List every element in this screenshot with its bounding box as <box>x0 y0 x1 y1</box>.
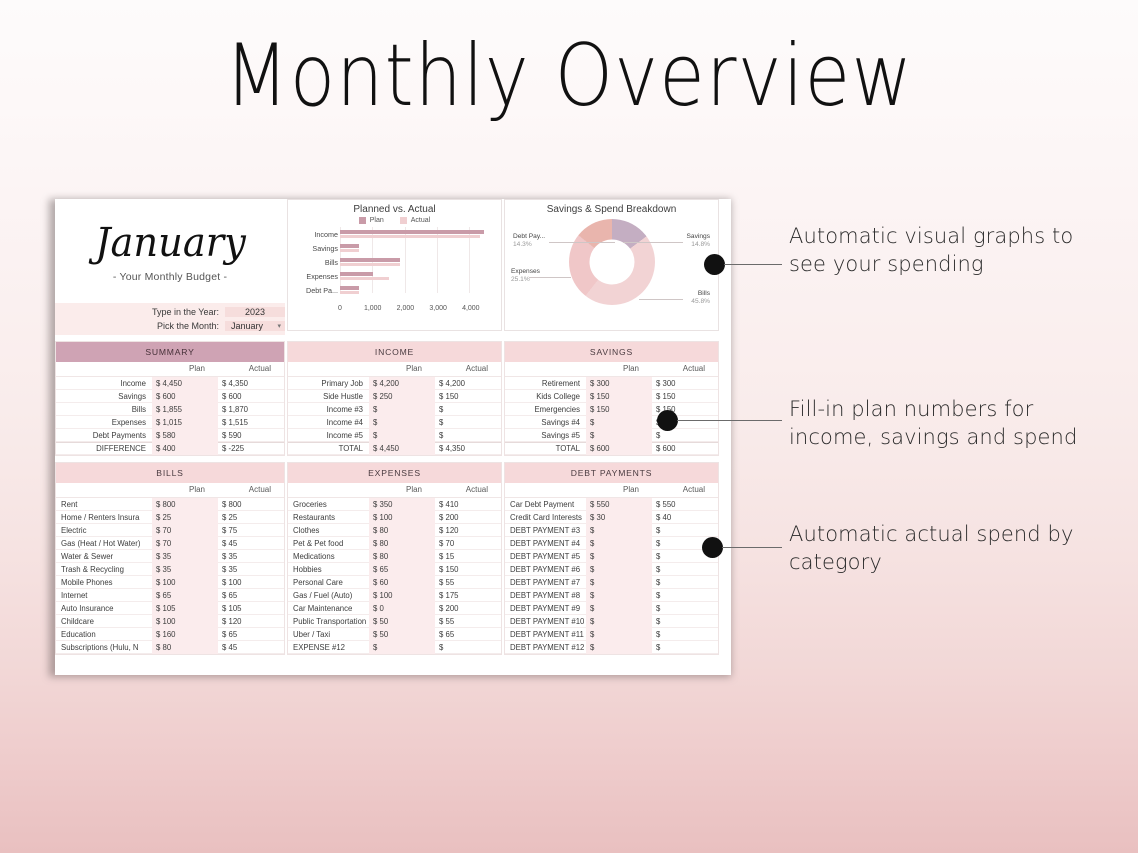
year-row: Type in the Year: 2023 <box>55 305 285 319</box>
cell-category: Public Transportation <box>288 617 369 626</box>
cell-actual[interactable]: $ <box>652 524 718 537</box>
cell-plan[interactable]: $ <box>369 429 435 442</box>
cell-plan[interactable]: $ <box>586 563 652 576</box>
cell-actual[interactable]: $ 4,350 <box>435 442 501 455</box>
cell-actual[interactable]: $ 175 <box>435 589 501 602</box>
annotation-dot-graphs <box>704 254 725 275</box>
table-row[interactable]: Trash & Recycling$ 35$ 35 <box>56 563 284 576</box>
cell-actual[interactable]: $ <box>652 615 718 628</box>
table-header-bills: BILLS <box>56 463 284 483</box>
table-row[interactable]: Savings #5$$ <box>505 429 718 442</box>
cell-plan[interactable]: $ 50 <box>369 615 435 628</box>
cell-actual[interactable]: $ 40 <box>652 511 718 524</box>
column-header-row: PlanActual <box>56 362 284 377</box>
cell-actual[interactable]: $ -225 <box>218 442 284 455</box>
table-row[interactable]: Internet$ 65$ 65 <box>56 589 284 602</box>
table-row[interactable]: Primary Job$ 4,200$ 4,200 <box>288 377 501 390</box>
column-header-row: PlanActual <box>288 483 501 498</box>
cell-category: Gas (Heat / Hot Water) <box>56 539 152 548</box>
cell-category: Credit Card Interests <box>505 513 586 522</box>
year-input[interactable]: 2023 <box>225 307 285 317</box>
table-row[interactable]: Income #4$$ <box>288 416 501 429</box>
cell-actual[interactable]: $ 150 <box>435 390 501 403</box>
cell-plan[interactable]: $ 150 <box>586 403 652 416</box>
cell-plan[interactable]: $ 35 <box>152 550 218 563</box>
cell-actual[interactable]: $ 800 <box>218 498 284 511</box>
table-row[interactable]: Car Maintenance$ 0$ 200 <box>288 602 501 615</box>
cell-actual[interactable]: $ <box>435 429 501 442</box>
table-row[interactable]: Electric$ 70$ 75 <box>56 524 284 537</box>
cell-actual[interactable]: $ 590 <box>218 429 284 442</box>
cell-plan[interactable]: $ 300 <box>586 377 652 390</box>
cell-plan[interactable]: $ 80 <box>152 641 218 654</box>
cell-actual[interactable]: $ 45 <box>218 641 284 654</box>
table-row[interactable]: Gas / Fuel (Auto)$ 100$ 175 <box>288 589 501 602</box>
bar-pair <box>340 270 495 282</box>
cell-plan[interactable]: $ <box>586 641 652 654</box>
cell-category: DEBT PAYMENT #9 <box>505 604 586 613</box>
cell-plan[interactable]: $ 80 <box>369 550 435 563</box>
cell-category: Education <box>56 630 152 639</box>
bar-chart-category-label: Debt Pa... <box>294 286 338 295</box>
cell-plan[interactable]: $ 65 <box>152 589 218 602</box>
table-row[interactable]: DEBT PAYMENT #6$$ <box>505 563 718 576</box>
cell-plan[interactable]: $ <box>586 589 652 602</box>
cell-category: Income #3 <box>288 405 369 414</box>
cell-plan[interactable]: $ 25 <box>152 511 218 524</box>
table-row[interactable]: Home / Renters Insura$ 25$ 25 <box>56 511 284 524</box>
cell-category: DEBT PAYMENT #6 <box>505 565 586 574</box>
table-row[interactable]: Income #5$$ <box>288 429 501 442</box>
cell-plan[interactable]: $ 60 <box>369 576 435 589</box>
annotation-fillin: Fill-in plan numbers for income, savings… <box>789 396 1119 451</box>
table-row[interactable]: Savings #4$$ <box>505 416 718 429</box>
legend-label-plan: Plan <box>370 217 384 224</box>
cell-plan[interactable]: $ <box>369 416 435 429</box>
cell-actual[interactable]: $ 1,515 <box>218 416 284 429</box>
savings-spend-chart-panel: Savings & Spend Breakdown Debt Pay... 14… <box>504 199 719 335</box>
cell-actual[interactable]: $ <box>435 641 501 654</box>
cell-actual[interactable]: $ 1,870 <box>218 403 284 416</box>
bar-chart-xtick: 1,000 <box>364 305 382 312</box>
table-row[interactable]: DEBT PAYMENT #4$$ <box>505 537 718 550</box>
cell-plan[interactable]: $ 600 <box>586 442 652 455</box>
cell-plan[interactable]: $ 4,450 <box>369 442 435 455</box>
annotation-line-graphs <box>724 264 782 265</box>
table-row[interactable]: Gas (Heat / Hot Water)$ 70$ 45 <box>56 537 284 550</box>
table-header-expenses: EXPENSES <box>288 463 501 483</box>
month-label: Pick the Month: <box>55 321 225 331</box>
cell-category: Trash & Recycling <box>56 565 152 574</box>
tables-row-1: SUMMARYPlanActualIncome$ 4,450$ 4,350Sav… <box>55 341 731 456</box>
bar-pair <box>340 284 495 296</box>
cell-category: TOTAL <box>288 444 369 453</box>
cell-plan[interactable]: $ 1,855 <box>152 403 218 416</box>
table-row[interactable]: DEBT PAYMENT #11$$ <box>505 628 718 641</box>
cell-category: Restaurants <box>288 513 369 522</box>
leader-line-savings <box>623 242 683 243</box>
annotation-graphs: Automatic visual graphs to see your spen… <box>789 223 1089 278</box>
table-row[interactable]: Water & Sewer$ 35$ 35 <box>56 550 284 563</box>
cell-actual[interactable]: $ 410 <box>435 498 501 511</box>
cell-actual[interactable]: $ <box>435 403 501 416</box>
bar-chart-plot: IncomeSavingsBillsExpensesDebt Pa... <box>294 227 495 305</box>
cell-category: Personal Care <box>288 578 369 587</box>
bar-chart-xtick: 3,000 <box>429 305 447 312</box>
cell-category: DEBT PAYMENT #8 <box>505 591 586 600</box>
leader-line-debt <box>549 242 615 243</box>
bar-actual <box>340 263 400 267</box>
cell-plan[interactable]: $ 550 <box>586 498 652 511</box>
column-header-plan: Plan <box>586 485 652 494</box>
donut-plot: Debt Pay... 14.3% Savings 14.8% Expenses… <box>511 217 712 317</box>
cell-category: Medications <box>288 552 369 561</box>
cell-plan[interactable]: $ 80 <box>369 524 435 537</box>
table-row[interactable]: Income$ 4,450$ 4,350 <box>56 377 284 390</box>
cell-actual[interactable]: $ 55 <box>435 576 501 589</box>
table-row[interactable]: Car Debt Payment$ 550$ 550 <box>505 498 718 511</box>
legend-label-actual: Actual <box>411 217 430 224</box>
cell-actual[interactable]: $ 105 <box>218 602 284 615</box>
bar-pair <box>340 242 495 254</box>
cell-plan[interactable]: $ 600 <box>152 390 218 403</box>
cell-plan[interactable]: $ 50 <box>369 628 435 641</box>
bar-chart-row: Debt Pa... <box>340 283 495 297</box>
table-row[interactable]: Mobile Phones$ 100$ 100 <box>56 576 284 589</box>
bar-chart-xtick: 4,000 <box>462 305 480 312</box>
cell-plan[interactable]: $ 30 <box>586 511 652 524</box>
column-header-category <box>56 364 152 373</box>
legend-swatch-plan <box>359 217 366 224</box>
savings-spend-breakdown-chart: Savings & Spend Breakdown Debt Pay... 14… <box>504 199 719 331</box>
annotation-dot-fillin <box>657 410 678 431</box>
table-row[interactable]: Debt Payments$ 580$ 590 <box>56 429 284 442</box>
cell-actual[interactable]: $ <box>652 429 718 442</box>
cell-plan[interactable]: $ 105 <box>152 602 218 615</box>
cell-plan[interactable]: $ <box>586 576 652 589</box>
cell-plan[interactable]: $ <box>586 550 652 563</box>
annotation-dot-actuals <box>702 537 723 558</box>
table-row[interactable]: Hobbies$ 65$ 150 <box>288 563 501 576</box>
table-row[interactable]: TOTAL$ 4,450$ 4,350 <box>288 442 501 455</box>
annotation-line-fillin <box>677 420 782 421</box>
bar-plan <box>340 244 359 248</box>
table-row[interactable]: Groceries$ 350$ 410 <box>288 498 501 511</box>
column-header-row: PlanActual <box>288 362 501 377</box>
bar-chart-xtick: 0 <box>338 305 342 312</box>
cell-plan[interactable]: $ 1,015 <box>152 416 218 429</box>
table-row[interactable]: DIFFERENCE$ 400$ -225 <box>56 442 284 455</box>
table-row[interactable]: EXPENSE #12$$ <box>288 641 501 654</box>
bar-chart-row: Savings <box>340 241 495 255</box>
cell-plan[interactable]: $ 400 <box>152 442 218 455</box>
cell-actual[interactable]: $ 45 <box>218 537 284 550</box>
cell-actual[interactable]: $ <box>652 628 718 641</box>
table-row[interactable]: DEBT PAYMENT #3$$ <box>505 524 718 537</box>
cell-plan[interactable]: $ <box>586 524 652 537</box>
cell-category: DEBT PAYMENT #10 <box>505 617 586 626</box>
table-row[interactable]: Side Hustle$ 250$ 150 <box>288 390 501 403</box>
cell-category: Savings #5 <box>505 431 586 440</box>
cell-actual[interactable]: $ <box>652 602 718 615</box>
cell-plan[interactable]: $ <box>586 429 652 442</box>
summary-table: SUMMARYPlanActualIncome$ 4,450$ 4,350Sav… <box>55 341 285 456</box>
cell-plan[interactable]: $ 160 <box>152 628 218 641</box>
month-select[interactable]: January ▾ <box>225 321 285 331</box>
table-row[interactable]: DEBT PAYMENT #9$$ <box>505 602 718 615</box>
cell-category: Primary Job <box>288 379 369 388</box>
table-row[interactable]: Subscriptions (Hulu, N$ 80$ 45 <box>56 641 284 654</box>
table-row[interactable]: Childcare$ 100$ 120 <box>56 615 284 628</box>
cell-actual[interactable]: $ <box>435 416 501 429</box>
bar-chart-xaxis: 01,0002,0003,0004,000 <box>294 305 495 317</box>
donut-ring <box>569 219 655 305</box>
cell-plan[interactable]: $ <box>586 602 652 615</box>
cell-actual[interactable]: $ 35 <box>218 563 284 576</box>
cell-category: Mobile Phones <box>56 578 152 587</box>
cell-category: Savings <box>56 392 152 401</box>
table-row[interactable]: Emergencies$ 150$ 150 <box>505 403 718 416</box>
column-header-actual: Actual <box>218 485 284 494</box>
cell-category: Income #5 <box>288 431 369 440</box>
table-row[interactable]: Savings$ 600$ 600 <box>56 390 284 403</box>
table-row[interactable]: Expenses$ 1,015$ 1,515 <box>56 416 284 429</box>
cell-category: Car Debt Payment <box>505 500 586 509</box>
cell-actual[interactable]: $ 15 <box>435 550 501 563</box>
cell-category: Groceries <box>288 500 369 509</box>
table-row[interactable]: Bills$ 1,855$ 1,870 <box>56 403 284 416</box>
cell-actual[interactable]: $ 100 <box>218 576 284 589</box>
column-header-plan: Plan <box>152 364 218 373</box>
cell-actual[interactable]: $ 600 <box>218 390 284 403</box>
table-row[interactable]: Credit Card Interests$ 30$ 40 <box>505 511 718 524</box>
cell-plan[interactable]: $ <box>586 416 652 429</box>
bar-chart-row: Income <box>340 227 495 241</box>
cell-actual[interactable]: $ 550 <box>652 498 718 511</box>
cell-actual[interactable]: $ 150 <box>652 390 718 403</box>
bills-table: BILLSPlanActualRent$ 800$ 800Home / Rent… <box>55 462 285 655</box>
table-row[interactable]: Income #3$$ <box>288 403 501 416</box>
income-table: INCOMEPlanActualPrimary Job$ 4,200$ 4,20… <box>287 341 502 456</box>
cell-actual[interactable]: $ 70 <box>435 537 501 550</box>
year-label: Type in the Year: <box>55 307 225 317</box>
column-header-row: PlanActual <box>56 483 284 498</box>
table-row[interactable]: Clothes$ 80$ 120 <box>288 524 501 537</box>
cell-plan[interactable]: $ <box>586 615 652 628</box>
cell-actual[interactable]: $ 65 <box>218 628 284 641</box>
column-header-plan: Plan <box>586 364 652 373</box>
legend-swatch-actual <box>400 217 407 224</box>
column-header-category <box>505 364 586 373</box>
bar-chart-category-label: Expenses <box>294 272 338 281</box>
bar-chart-category-label: Bills <box>294 258 338 267</box>
table-row[interactable]: Retirement$ 300$ 300 <box>505 377 718 390</box>
donut-chart-title: Savings & Spend Breakdown <box>511 204 712 215</box>
cell-actual[interactable]: $ 200 <box>435 602 501 615</box>
cell-actual[interactable]: $ 55 <box>435 615 501 628</box>
cell-category: DEBT PAYMENT #4 <box>505 539 586 548</box>
cell-plan[interactable]: $ 350 <box>369 498 435 511</box>
cell-category: Auto Insurance <box>56 604 152 613</box>
cell-category: Electric <box>56 526 152 535</box>
cell-plan[interactable]: $ <box>369 403 435 416</box>
bar-chart-row: Bills <box>340 255 495 269</box>
bar-plan <box>340 230 484 234</box>
cell-plan[interactable]: $ 100 <box>369 511 435 524</box>
cell-actual[interactable]: $ <box>652 563 718 576</box>
table-row[interactable]: DEBT PAYMENT #10$$ <box>505 615 718 628</box>
cell-plan[interactable]: $ <box>369 641 435 654</box>
table-row[interactable]: Auto Insurance$ 105$ 105 <box>56 602 284 615</box>
bar-actual <box>340 291 359 295</box>
cell-actual[interactable]: $ <box>652 589 718 602</box>
cell-plan[interactable]: $ 100 <box>369 589 435 602</box>
cell-category: Subscriptions (Hulu, N <box>56 643 152 652</box>
cell-actual[interactable]: $ <box>652 641 718 654</box>
table-row[interactable]: Uber / Taxi$ 50$ 65 <box>288 628 501 641</box>
donut-label-debt: Debt Pay... 14.3% <box>513 233 545 249</box>
cell-plan[interactable]: $ 4,450 <box>152 377 218 390</box>
bar-actual <box>340 235 480 239</box>
cell-category: Gas / Fuel (Auto) <box>288 591 369 600</box>
cell-plan[interactable]: $ 100 <box>152 615 218 628</box>
column-header-category <box>288 485 369 494</box>
cell-plan[interactable]: $ 100 <box>152 576 218 589</box>
month-row: Pick the Month: January ▾ <box>55 319 285 333</box>
column-header-actual: Actual <box>218 364 284 373</box>
table-row[interactable]: Rent$ 800$ 800 <box>56 498 284 511</box>
column-header-actual: Actual <box>435 485 501 494</box>
table-header-savings: SAVINGS <box>505 342 718 362</box>
cell-actual[interactable]: $ <box>652 576 718 589</box>
cell-actual[interactable]: $ 65 <box>435 628 501 641</box>
table-row[interactable]: DEBT PAYMENT #12$$ <box>505 641 718 654</box>
cell-plan[interactable]: $ <box>586 537 652 550</box>
table-row[interactable]: DEBT PAYMENT #8$$ <box>505 589 718 602</box>
table-header-debt: DEBT PAYMENTS <box>505 463 718 483</box>
column-header-row: PlanActual <box>505 362 718 377</box>
cell-category: Bills <box>56 405 152 414</box>
cell-category: DIFFERENCE <box>56 444 152 453</box>
column-header-actual: Actual <box>435 364 501 373</box>
cell-category: Side Hustle <box>288 392 369 401</box>
cell-plan[interactable]: $ <box>586 628 652 641</box>
month-select-value: January <box>231 321 263 331</box>
cell-plan[interactable]: $ 35 <box>152 563 218 576</box>
table-row[interactable]: TOTAL$ 600$ 600 <box>505 442 718 455</box>
bar-plan <box>340 258 400 262</box>
bar-chart-category-label: Income <box>294 230 338 239</box>
cell-category: Income #4 <box>288 418 369 427</box>
column-header-plan: Plan <box>369 485 435 494</box>
cell-actual[interactable]: $ 200 <box>435 511 501 524</box>
table-row[interactable]: DEBT PAYMENT #7$$ <box>505 576 718 589</box>
cell-actual[interactable]: $ 4,350 <box>218 377 284 390</box>
cell-plan[interactable]: $ 150 <box>586 390 652 403</box>
cell-category: TOTAL <box>505 444 586 453</box>
cell-plan[interactable]: $ 65 <box>369 563 435 576</box>
table-row[interactable]: Kids College$ 150$ 150 <box>505 390 718 403</box>
cell-category: Rent <box>56 500 152 509</box>
cell-plan[interactable]: $ 4,200 <box>369 377 435 390</box>
month-heading-block: January - Your Monthly Budget - <box>55 199 285 303</box>
cell-category: EXPENSE #12 <box>288 643 369 652</box>
column-header-actual: Actual <box>652 364 718 373</box>
cell-category: Kids College <box>505 392 586 401</box>
bar-chart-row: Expenses <box>340 269 495 283</box>
donut-label-bills: Bills 45.8% <box>691 290 710 306</box>
cell-category: Pet & Pet food <box>288 539 369 548</box>
table-row[interactable]: Restaurants$ 100$ 200 <box>288 511 501 524</box>
month-card: January - Your Monthly Budget - Type in … <box>55 199 285 335</box>
bar-actual <box>340 277 389 281</box>
bar-pair <box>340 228 495 240</box>
leader-line-bills <box>639 299 683 300</box>
cell-actual[interactable]: $ 25 <box>218 511 284 524</box>
cell-category: Expenses <box>56 418 152 427</box>
table-row[interactable]: Education$ 160$ 65 <box>56 628 284 641</box>
cell-plan[interactable]: $ 250 <box>369 390 435 403</box>
cell-plan[interactable]: $ 70 <box>152 537 218 550</box>
column-header-row: PlanActual <box>505 483 718 498</box>
table-row[interactable]: Pet & Pet food$ 80$ 70 <box>288 537 501 550</box>
cell-actual[interactable]: $ 65 <box>218 589 284 602</box>
cell-category: DEBT PAYMENT #3 <box>505 526 586 535</box>
cell-plan[interactable]: $ 800 <box>152 498 218 511</box>
table-row[interactable]: DEBT PAYMENT #5$$ <box>505 550 718 563</box>
year-month-picker: Type in the Year: 2023 Pick the Month: J… <box>55 303 285 335</box>
cell-actual[interactable]: $ 35 <box>218 550 284 563</box>
table-row[interactable]: Medications$ 80$ 15 <box>288 550 501 563</box>
debt-payments-table: DEBT PAYMENTSPlanActualCar Debt Payment$… <box>504 462 719 655</box>
spreadsheet-card: January - Your Monthly Budget - Type in … <box>55 199 731 675</box>
cell-category: Emergencies <box>505 405 586 414</box>
table-header-income: INCOME <box>288 342 501 362</box>
bar-chart-legend: Plan Actual <box>294 217 495 224</box>
column-header-actual: Actual <box>652 485 718 494</box>
cell-actual[interactable]: $ 4,200 <box>435 377 501 390</box>
cell-plan[interactable]: $ 70 <box>152 524 218 537</box>
cell-actual[interactable]: $ 300 <box>652 377 718 390</box>
cell-plan[interactable]: $ 0 <box>369 602 435 615</box>
cell-actual[interactable]: $ 120 <box>435 524 501 537</box>
cell-category: Clothes <box>288 526 369 535</box>
table-header-summary: SUMMARY <box>56 342 284 362</box>
expenses-table: EXPENSESPlanActualGroceries$ 350$ 410Res… <box>287 462 502 655</box>
cell-actual[interactable]: $ 120 <box>218 615 284 628</box>
planned-vs-actual-chart-panel: Planned vs. Actual Plan Actual IncomeSav… <box>287 199 502 335</box>
cell-category: Retirement <box>505 379 586 388</box>
legend-item-actual: Actual <box>400 217 430 224</box>
annotation-line-actuals <box>722 547 782 548</box>
table-row[interactable]: Public Transportation$ 50$ 55 <box>288 615 501 628</box>
cell-category: Water & Sewer <box>56 552 152 561</box>
cell-category: Income <box>56 379 152 388</box>
cell-category: Childcare <box>56 617 152 626</box>
cell-actual[interactable]: $ 600 <box>652 442 718 455</box>
cell-plan[interactable]: $ 80 <box>369 537 435 550</box>
column-header-category <box>505 485 586 494</box>
bar-actual <box>340 249 359 253</box>
cell-actual[interactable]: $ 150 <box>435 563 501 576</box>
table-row[interactable]: Personal Care$ 60$ 55 <box>288 576 501 589</box>
cell-category: DEBT PAYMENT #12 <box>505 643 586 652</box>
cell-category: Uber / Taxi <box>288 630 369 639</box>
cell-actual[interactable]: $ 75 <box>218 524 284 537</box>
cell-plan[interactable]: $ 580 <box>152 429 218 442</box>
cell-category: Internet <box>56 591 152 600</box>
column-header-category <box>56 485 152 494</box>
